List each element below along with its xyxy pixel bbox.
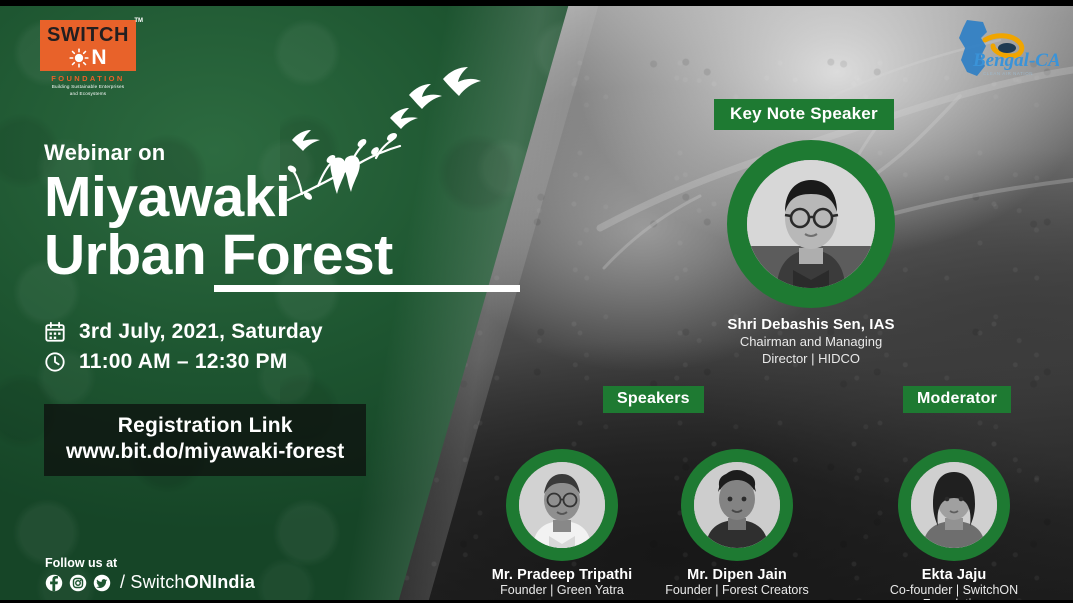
event-date: 3rd July, 2021, Saturday xyxy=(79,320,323,344)
facebook-icon[interactable] xyxy=(45,574,63,592)
title-line-2: Urban Forest xyxy=(44,223,393,287)
title-line-2-wrap: Urban Forest xyxy=(44,226,393,284)
keynote-portrait-frame xyxy=(727,140,895,308)
eyebrow-text: Webinar on xyxy=(44,140,514,166)
webinar-poster: TM SWITCH N xyxy=(0,0,1073,603)
moderator-portrait-frame xyxy=(898,449,1010,561)
title-underline xyxy=(214,285,520,292)
page-title: Miyawaki Urban Forest xyxy=(44,168,514,284)
speaker-1-name: Mr. Pradeep Tripathi xyxy=(477,567,647,583)
title-line-1: Miyawaki xyxy=(44,168,514,226)
instagram-icon[interactable] xyxy=(69,574,87,592)
registration-url[interactable]: www.bit.do/miyawaki-forest xyxy=(66,440,344,464)
calendar-icon xyxy=(44,321,66,343)
letterbox-bar-top xyxy=(0,0,1073,6)
follow-us-block: Follow us at / SwitchONIndia xyxy=(45,556,255,593)
speaker-2-portrait-frame xyxy=(681,449,793,561)
registration-label: Registration Link xyxy=(66,414,344,438)
speaker-1-photo xyxy=(519,462,605,548)
event-time: 11:00 AM – 12:30 PM xyxy=(79,350,287,374)
badge-speakers: Speakers xyxy=(603,386,704,413)
social-icons-row: / SwitchONIndia xyxy=(45,572,255,593)
twitter-icon[interactable] xyxy=(93,574,111,592)
follow-us-label: Follow us at xyxy=(45,556,255,570)
speaker-1-role: Founder | Green Yatra xyxy=(477,583,647,597)
speaker-card-1: Mr. Pradeep Tripathi Founder | Green Yat… xyxy=(477,449,647,597)
badge-moderator: Moderator xyxy=(903,386,1011,413)
speaker-2-photo xyxy=(694,462,780,548)
keynote-speaker-role-line1: Chairman and Managing xyxy=(705,334,917,350)
badge-keynote-speaker: Key Note Speaker xyxy=(714,99,894,130)
moderator-photo xyxy=(911,462,997,548)
keynote-speaker-role-line2: Director | HIDCO xyxy=(705,351,917,367)
headline-block: Webinar on Miyawaki Urban Forest xyxy=(44,140,514,476)
speaker-1-portrait-frame xyxy=(506,449,618,561)
clock-icon xyxy=(44,351,66,373)
social-handle: / SwitchONIndia xyxy=(120,572,255,593)
keynote-speaker-photo xyxy=(747,160,875,288)
event-date-row: 3rd July, 2021, Saturday xyxy=(44,320,514,344)
event-time-row: 11:00 AM – 12:30 PM xyxy=(44,350,514,374)
moderator-name: Ekta Jaju xyxy=(869,567,1039,583)
moderator-card: Ekta Jaju Co-founder | SwitchON Foundati… xyxy=(869,449,1039,603)
speaker-2-role: Founder | Forest Creators xyxy=(652,583,822,597)
event-details: 3rd July, 2021, Saturday 11:00 AM – 12:3… xyxy=(44,320,514,374)
registration-link-box[interactable]: Registration Link www.bit.do/miyawaki-fo… xyxy=(44,404,366,476)
keynote-speaker-card: Shri Debashis Sen, IAS Chairman and Mana… xyxy=(705,140,917,367)
keynote-speaker-name: Shri Debashis Sen, IAS xyxy=(705,316,917,333)
speaker-card-2: Mr. Dipen Jain Founder | Forest Creators xyxy=(652,449,822,597)
speaker-2-name: Mr. Dipen Jain xyxy=(652,567,822,583)
